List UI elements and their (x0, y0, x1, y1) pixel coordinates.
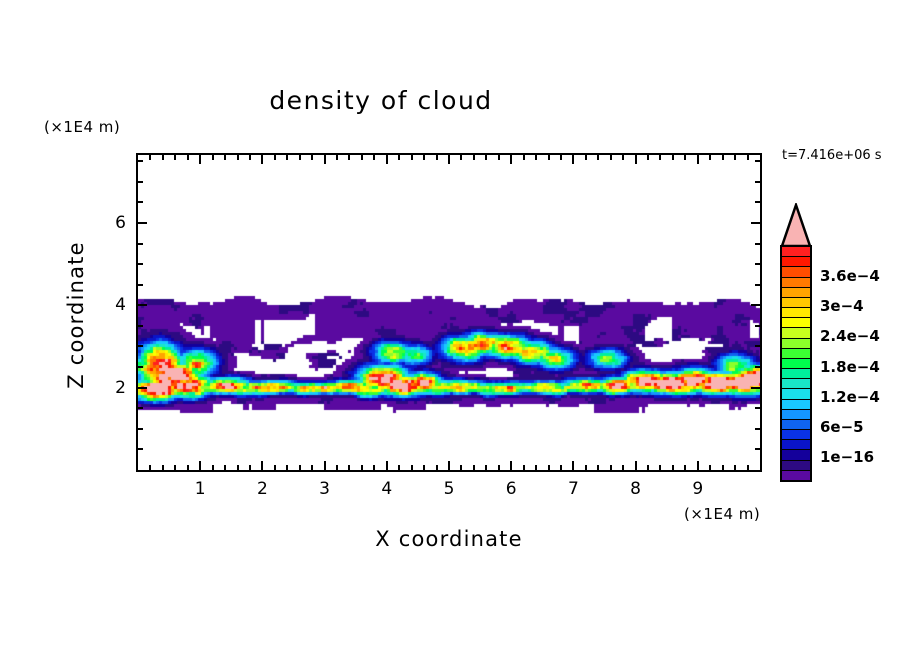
x-tick-top (523, 155, 525, 160)
colorbar-tick-label: 1e−16 (820, 448, 874, 466)
x-tick-major (386, 461, 388, 470)
colorbar-band (782, 379, 810, 389)
x-tick-major (199, 461, 201, 470)
x-tick-top (460, 155, 462, 160)
x-tick-minor (460, 465, 462, 470)
x-tick-top (237, 155, 239, 160)
x-tick-minor (311, 465, 313, 470)
x-tick-minor (659, 465, 661, 470)
x-tick-minor (411, 465, 413, 470)
x-tick-major (635, 461, 637, 470)
colorbar-band (782, 298, 810, 308)
x-tick-minor (174, 465, 176, 470)
colorbar-band (782, 369, 810, 379)
colorbar-band (782, 257, 810, 267)
x-tick-minor (149, 465, 151, 470)
x-tick-top (199, 155, 201, 164)
y-tick-right (751, 387, 760, 389)
colorbar-band (782, 400, 810, 410)
x-axis-title: X coordinate (136, 527, 762, 551)
y-tick-major (138, 304, 147, 306)
x-tick-minor (187, 465, 189, 470)
colorbar-bands (780, 245, 812, 482)
x-tick-minor (423, 465, 425, 470)
x-tick-top (261, 155, 263, 164)
y-tick-minor (138, 243, 143, 245)
x-tick-top (498, 155, 500, 160)
x-tick-top (361, 155, 363, 160)
x-tick-major (697, 461, 699, 470)
x-tick-top (560, 155, 562, 160)
colorbar-band (782, 318, 810, 328)
y-tick-minor (138, 325, 143, 327)
colorbar-band (782, 328, 810, 338)
x-tick-top (622, 155, 624, 160)
colorbar-tick-label: 1.8e−4 (820, 358, 880, 376)
y-tick-right (755, 201, 760, 203)
x-tick-top (324, 155, 326, 164)
x-tick-minor (348, 465, 350, 470)
x-tick-label: 1 (195, 479, 206, 499)
colorbar-band (782, 461, 810, 471)
x-tick-top (448, 155, 450, 164)
y-tick-right (755, 345, 760, 347)
x-tick-top (548, 155, 550, 160)
x-tick-minor (249, 465, 251, 470)
x-tick-top (249, 155, 251, 160)
x-tick-minor (672, 465, 674, 470)
x-tick-top (411, 155, 413, 160)
y-tick-label: 2 (94, 378, 126, 398)
x-tick-top (149, 155, 151, 160)
y-tick-right (751, 222, 760, 224)
colorbar-band (782, 267, 810, 277)
axis-ticks: 123456789246 (0, 0, 904, 654)
figure-root: density of cloud (×1E4 m) t=7.416e+06 s … (0, 0, 904, 654)
x-tick-minor (709, 465, 711, 470)
y-tick-minor (138, 284, 143, 286)
y-tick-minor (138, 181, 143, 183)
x-tick-top (162, 155, 164, 160)
x-tick-top (187, 155, 189, 160)
x-tick-minor (237, 465, 239, 470)
x-tick-major (510, 461, 512, 470)
y-tick-minor (138, 407, 143, 409)
x-tick-minor (485, 465, 487, 470)
y-tick-right (755, 160, 760, 162)
x-tick-top (572, 155, 574, 164)
y-tick-minor (138, 160, 143, 162)
x-tick-minor (274, 465, 276, 470)
y-tick-major (138, 222, 147, 224)
x-tick-minor (498, 465, 500, 470)
x-tick-top (697, 155, 699, 164)
colorbar-band (782, 389, 810, 399)
x-tick-label: 7 (568, 479, 579, 499)
x-tick-top (212, 155, 214, 160)
x-tick-top (423, 155, 425, 160)
x-tick-label: 3 (319, 479, 330, 499)
x-tick-minor (684, 465, 686, 470)
x-tick-minor (286, 465, 288, 470)
x-tick-top (436, 155, 438, 160)
y-tick-minor (138, 201, 143, 203)
x-tick-minor (336, 465, 338, 470)
colorbar-band (782, 420, 810, 430)
y-tick-right (755, 428, 760, 430)
x-tick-minor (535, 465, 537, 470)
x-tick-major (324, 461, 326, 470)
y-tick-right (755, 263, 760, 265)
colorbar-band (782, 440, 810, 450)
x-tick-minor (734, 465, 736, 470)
x-tick-label: 5 (444, 479, 455, 499)
x-tick-minor (548, 465, 550, 470)
colorbar: 3.6e−43e−42.4e−41.8e−41.2e−46e−51e−16 (776, 203, 896, 483)
x-tick-minor (212, 465, 214, 470)
x-tick-minor (647, 465, 649, 470)
x-tick-top (473, 155, 475, 160)
y-tick-major (138, 387, 147, 389)
y-tick-right (755, 366, 760, 368)
x-tick-top (747, 155, 749, 160)
x-tick-minor (523, 465, 525, 470)
colorbar-tick-label: 1.2e−4 (820, 388, 880, 406)
x-tick-top (635, 155, 637, 164)
x-tick-minor (436, 465, 438, 470)
x-tick-minor (473, 465, 475, 470)
colorbar-band (782, 288, 810, 298)
y-tick-right (755, 325, 760, 327)
y-tick-minor (138, 345, 143, 347)
y-tick-right (755, 181, 760, 183)
x-tick-top (373, 155, 375, 160)
x-tick-major (261, 461, 263, 470)
colorbar-band (782, 450, 810, 460)
x-tick-label: 2 (257, 479, 268, 499)
x-tick-top (311, 155, 313, 160)
x-tick-top (348, 155, 350, 160)
colorbar-band (782, 308, 810, 318)
x-tick-top (398, 155, 400, 160)
x-tick-top (174, 155, 176, 160)
x-tick-minor (597, 465, 599, 470)
x-tick-label: 9 (692, 479, 703, 499)
x-tick-major (448, 461, 450, 470)
y-tick-right (755, 284, 760, 286)
colorbar-tick-label: 3.6e−4 (820, 267, 880, 285)
y-tick-minor (138, 263, 143, 265)
colorbar-tick-label: 3e−4 (820, 297, 864, 315)
colorbar-tick-label: 2.4e−4 (820, 327, 880, 345)
colorbar-tick-label: 6e−5 (820, 418, 864, 436)
x-tick-minor (747, 465, 749, 470)
colorbar-over-arrow-icon (780, 203, 812, 247)
x-tick-label: 8 (630, 479, 641, 499)
x-tick-minor (224, 465, 226, 470)
x-tick-minor (398, 465, 400, 470)
x-tick-top (336, 155, 338, 160)
y-tick-right (755, 448, 760, 450)
x-tick-top (386, 155, 388, 164)
y-tick-minor (138, 448, 143, 450)
x-tick-minor (361, 465, 363, 470)
x-tick-major (572, 461, 574, 470)
x-tick-top (647, 155, 649, 160)
x-tick-top (274, 155, 276, 160)
x-tick-top (535, 155, 537, 160)
x-axis-units-label: (×1E4 m) (684, 505, 760, 523)
y-tick-right (751, 304, 760, 306)
colorbar-band (782, 247, 810, 257)
colorbar-band (782, 410, 810, 420)
colorbar-band (782, 471, 810, 480)
x-tick-top (610, 155, 612, 160)
x-tick-minor (560, 465, 562, 470)
x-tick-minor (622, 465, 624, 470)
y-tick-label: 6 (94, 213, 126, 233)
x-tick-top (597, 155, 599, 160)
x-tick-minor (610, 465, 612, 470)
colorbar-band (782, 278, 810, 288)
x-tick-label: 6 (506, 479, 517, 499)
x-tick-minor (162, 465, 164, 470)
x-tick-top (659, 155, 661, 160)
x-tick-top (672, 155, 674, 160)
colorbar-band (782, 430, 810, 440)
x-tick-top (709, 155, 711, 160)
y-tick-minor (138, 366, 143, 368)
x-tick-minor (299, 465, 301, 470)
colorbar-band (782, 349, 810, 359)
x-tick-top (585, 155, 587, 160)
x-tick-top (684, 155, 686, 160)
y-axis-title: Z coordinate (64, 200, 88, 430)
y-tick-label: 4 (94, 295, 126, 315)
colorbar-band (782, 339, 810, 349)
x-tick-top (734, 155, 736, 160)
x-tick-top (510, 155, 512, 164)
y-tick-right (755, 243, 760, 245)
x-tick-label: 4 (381, 479, 392, 499)
x-tick-minor (373, 465, 375, 470)
x-tick-top (485, 155, 487, 160)
colorbar-band (782, 359, 810, 369)
x-tick-top (224, 155, 226, 160)
x-tick-top (299, 155, 301, 160)
y-tick-right (755, 407, 760, 409)
x-tick-minor (722, 465, 724, 470)
x-tick-top (286, 155, 288, 160)
x-tick-top (722, 155, 724, 160)
x-tick-minor (585, 465, 587, 470)
y-tick-minor (138, 428, 143, 430)
